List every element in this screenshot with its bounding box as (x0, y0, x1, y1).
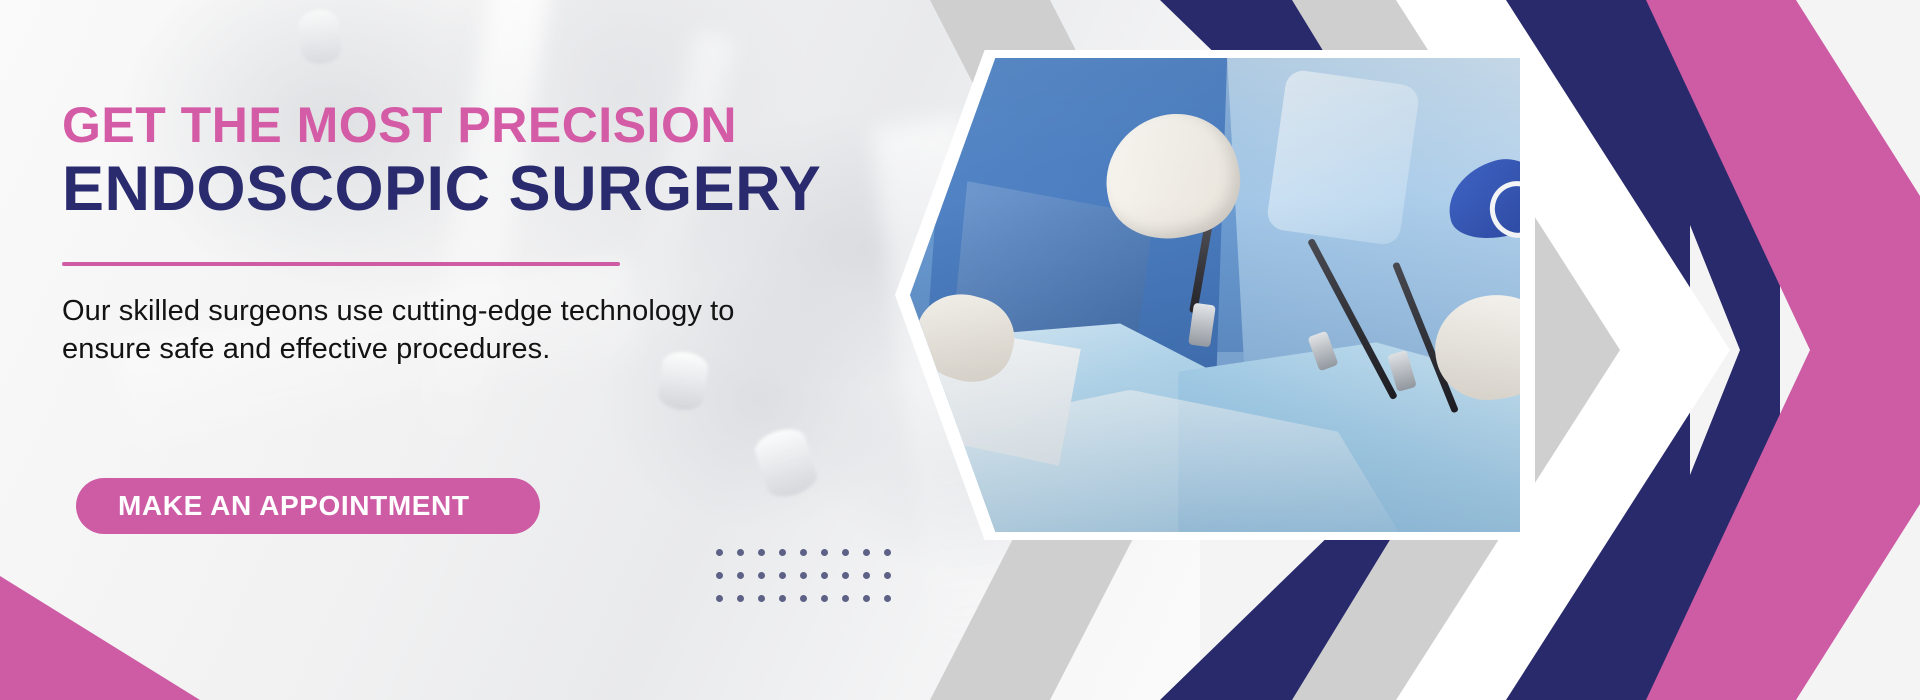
decorative-dot (800, 595, 807, 602)
decorative-dot (863, 595, 870, 602)
decorative-dot (737, 595, 744, 602)
decorative-dot (842, 549, 849, 556)
decorative-dot (821, 549, 828, 556)
decorative-dot (800, 572, 807, 579)
decorative-dot (716, 595, 723, 602)
surgery-photo (910, 58, 1520, 532)
surgery-photo-image (910, 58, 1520, 532)
cta-label: MAKE AN APPOINTMENT (118, 490, 470, 522)
decorative-dot (737, 572, 744, 579)
page-title: ENDOSCOPIC SURGERY (62, 158, 821, 221)
decorative-dot (884, 549, 891, 556)
decorative-dot (758, 595, 765, 602)
make-an-appointment-button[interactable]: MAKE AN APPOINTMENT (76, 478, 540, 534)
eyebrow-heading: GET THE MOST PRECISION (62, 100, 737, 150)
decorative-dot (779, 595, 786, 602)
decorative-dot (779, 549, 786, 556)
decorative-dot (863, 572, 870, 579)
decorative-dot (779, 572, 786, 579)
decorative-dot (821, 572, 828, 579)
decorative-dot (842, 595, 849, 602)
lede-paragraph: Our skilled surgeons use cutting-edge te… (62, 292, 802, 369)
decorative-dot (884, 572, 891, 579)
promo-banner: GET THE MOST PRECISION ENDOSCOPIC SURGER… (0, 0, 1920, 700)
title-divider (62, 262, 620, 266)
decorative-dot (884, 595, 891, 602)
photo-vignette (910, 58, 1520, 532)
decorative-dot (737, 549, 744, 556)
decorative-dot (821, 595, 828, 602)
dot-grid-decoration (716, 549, 905, 618)
decorative-dot (800, 549, 807, 556)
decorative-dot (863, 549, 870, 556)
decorative-dot (716, 572, 723, 579)
decorative-dot (758, 572, 765, 579)
decorative-dot (716, 549, 723, 556)
decorative-dot (842, 572, 849, 579)
decorative-dot (758, 549, 765, 556)
